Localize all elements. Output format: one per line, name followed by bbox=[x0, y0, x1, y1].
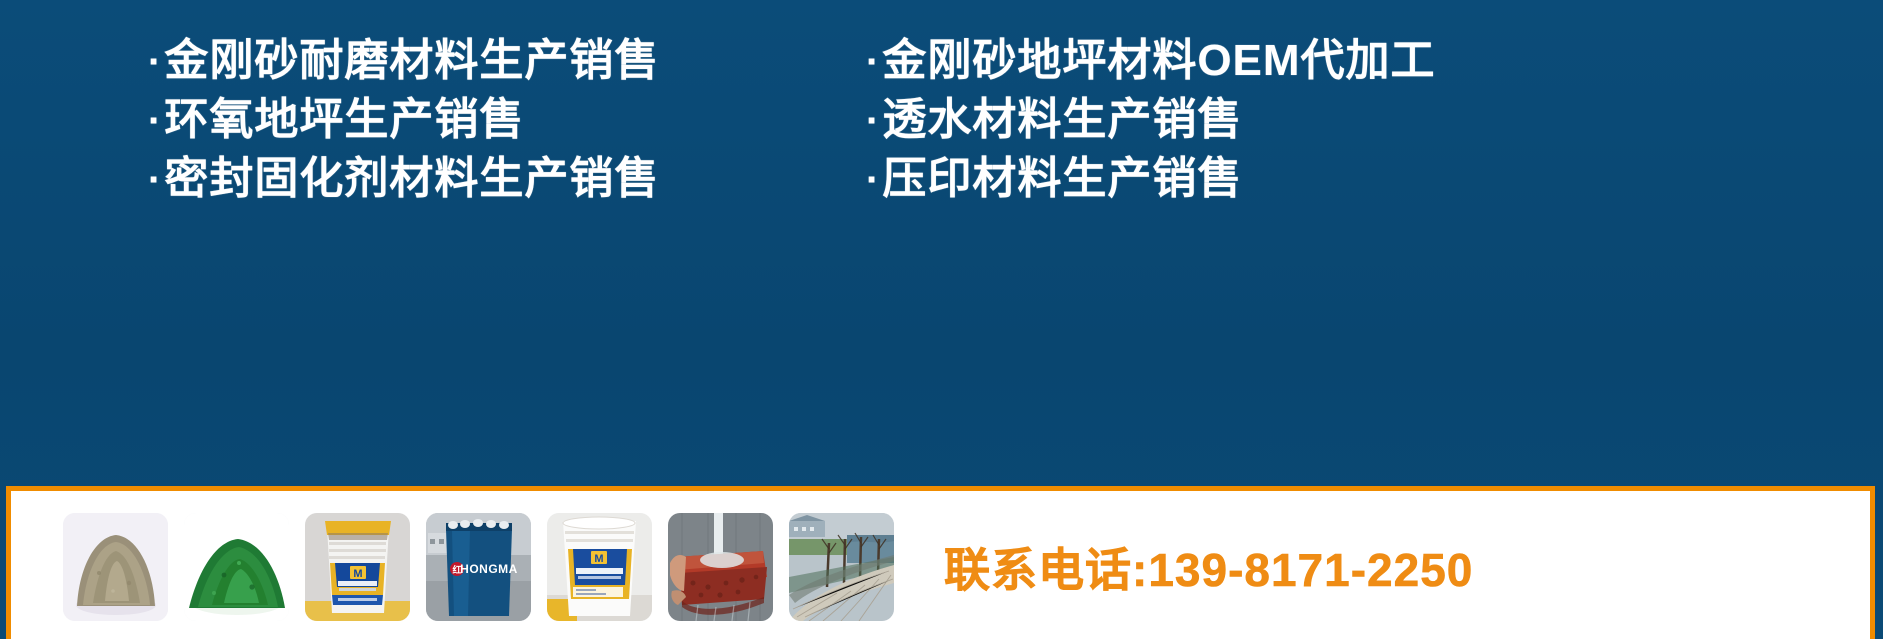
service-item: · 金刚砂耐磨材料生产销售 bbox=[148, 34, 659, 89]
bullet-dot-icon: · bbox=[148, 154, 162, 207]
svg-text:HONGMA: HONGMA bbox=[460, 562, 518, 576]
service-label: 金刚砂耐磨材料生产销售 bbox=[164, 34, 659, 87]
sealer-bucket-image: M bbox=[305, 513, 410, 621]
promotional-banner: · 金刚砂耐磨材料生产销售 · 环氧地坪生产销售 · 密封固化剂材料生产销售 ·… bbox=[0, 0, 1883, 639]
bullet-dot-icon: · bbox=[148, 95, 162, 148]
product-thumb-permeable-slab[interactable] bbox=[668, 513, 773, 621]
service-item: · 金刚砂地坪材料OEM代加工 bbox=[866, 34, 1436, 89]
green-powder-image bbox=[184, 513, 289, 621]
bullet-dot-icon: · bbox=[148, 36, 162, 89]
service-label: 密封固化剂材料生产销售 bbox=[164, 152, 659, 205]
bullet-dot-icon: · bbox=[866, 36, 880, 89]
hongma-drum-image: 红 HONGMA bbox=[426, 513, 531, 621]
product-thumb-stamped-walkway[interactable] bbox=[789, 513, 894, 621]
svg-text:M: M bbox=[594, 553, 603, 565]
product-strip: M bbox=[6, 486, 1875, 639]
bullet-dot-icon: · bbox=[866, 95, 880, 148]
service-label: 压印材料生产销售 bbox=[882, 152, 1242, 205]
service-item: · 密封固化剂材料生产销售 bbox=[148, 152, 659, 207]
product-thumbnail-list: M bbox=[63, 513, 894, 621]
service-item: · 压印材料生产销售 bbox=[866, 152, 1436, 207]
service-label: 透水材料生产销售 bbox=[882, 93, 1242, 146]
epoxy-bucket-image: M bbox=[547, 513, 652, 621]
svg-text:M: M bbox=[353, 568, 362, 580]
service-item: · 透水材料生产销售 bbox=[866, 93, 1436, 148]
service-item: · 环氧地坪生产销售 bbox=[148, 93, 659, 148]
product-thumb-epoxy-bucket[interactable]: M bbox=[547, 513, 652, 621]
bullet-dot-icon: · bbox=[866, 154, 880, 207]
service-label: 金刚砂地坪材料OEM代加工 bbox=[882, 34, 1435, 87]
product-thumb-gray-powder[interactable] bbox=[63, 513, 168, 621]
product-thumb-green-powder[interactable] bbox=[184, 513, 289, 621]
services-right-column: · 金刚砂地坪材料OEM代加工 · 透水材料生产销售 · 压印材料生产销售 bbox=[866, 34, 1436, 211]
services-left-column: · 金刚砂耐磨材料生产销售 · 环氧地坪生产销售 · 密封固化剂材料生产销售 bbox=[148, 34, 659, 211]
permeable-slab-image bbox=[668, 513, 773, 621]
service-label: 环氧地坪生产销售 bbox=[164, 93, 524, 146]
product-thumb-hongma-drum[interactable]: 红 HONGMA bbox=[426, 513, 531, 621]
product-thumb-sealer-bucket[interactable]: M bbox=[305, 513, 410, 621]
gray-powder-image bbox=[63, 513, 168, 621]
services-lists: · 金刚砂耐磨材料生产销售 · 环氧地坪生产销售 · 密封固化剂材料生产销售 ·… bbox=[0, 34, 1883, 234]
contact-phone[interactable]: 联系电话:139-8171-2250 bbox=[944, 534, 1473, 600]
stamped-walkway-image bbox=[789, 513, 894, 621]
